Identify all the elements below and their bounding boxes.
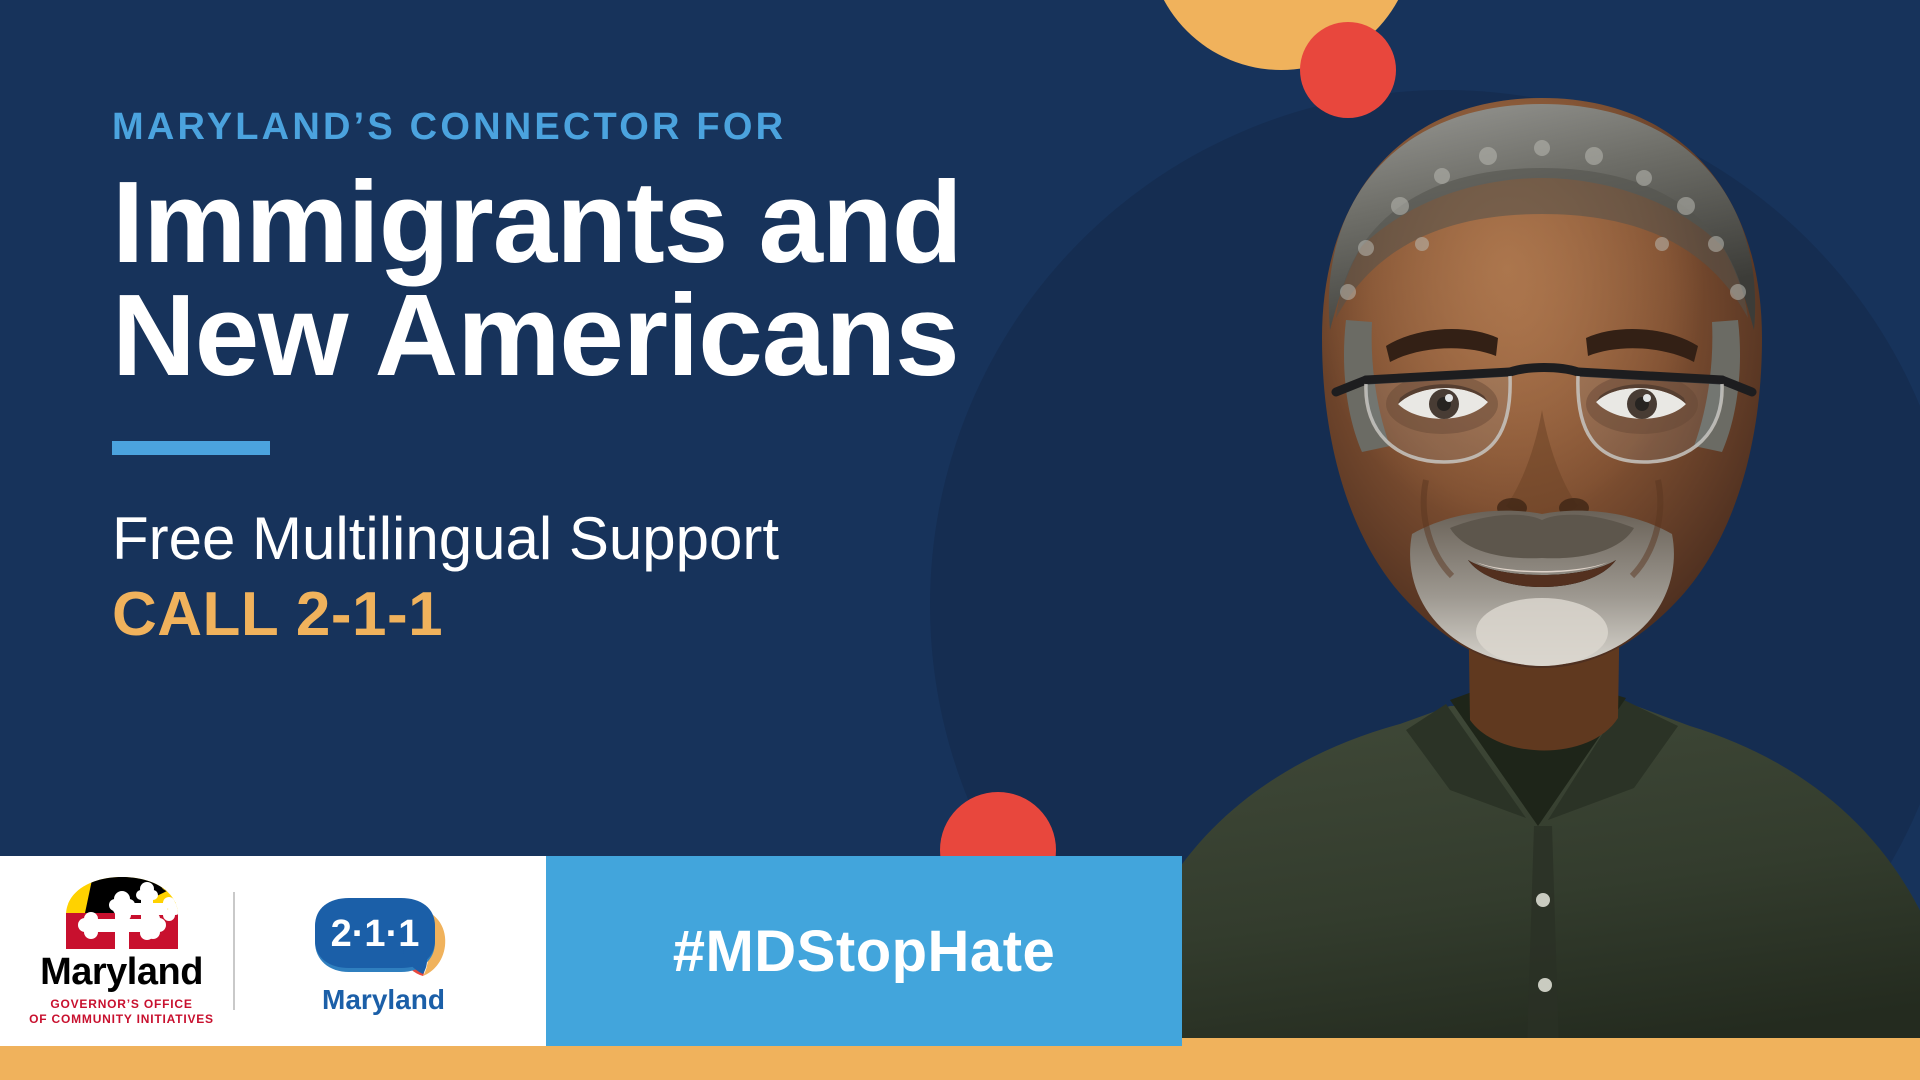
poster-canvas: MARYLAND’S CONNECTOR FOR Immigrants and … bbox=[0, 0, 1920, 1080]
governors-office-line-2: OF COMMUNITY INITIATIVES bbox=[29, 1012, 214, 1027]
maryland-wordmark: Maryland bbox=[40, 953, 203, 991]
maryland-flag-shield-icon bbox=[63, 875, 181, 949]
headline-line-1: Immigrants and bbox=[112, 166, 1120, 279]
speech-bubble-211-icon: 2·1·1 bbox=[305, 888, 463, 984]
footer-vertical-divider bbox=[233, 892, 235, 1010]
logo-211-maryland: 2·1·1 Maryland bbox=[243, 888, 546, 1014]
portrait-photo bbox=[1150, 0, 1920, 1080]
call-to-action-text: CALL 2-1-1 bbox=[112, 582, 1120, 647]
headline-block: MARYLAND’S CONNECTOR FOR Immigrants and … bbox=[0, 0, 1120, 647]
governors-office-line-1: GOVERNOR’S OFFICE bbox=[50, 997, 192, 1012]
eyebrow-text: MARYLAND’S CONNECTOR FOR bbox=[112, 108, 1120, 146]
headline-line-2: New Americans bbox=[112, 279, 1120, 392]
accent-divider bbox=[112, 441, 270, 455]
hashtag-text: #MDStopHate bbox=[673, 918, 1056, 985]
footer-logo-panel: Maryland GOVERNOR’S OFFICE OF COMMUNITY … bbox=[0, 856, 546, 1046]
logo-211-state-label: Maryland bbox=[322, 986, 445, 1014]
logo-211-number: 2·1·1 bbox=[330, 913, 419, 955]
maryland-governors-office-logo: Maryland GOVERNOR’S OFFICE OF COMMUNITY … bbox=[0, 875, 225, 1027]
hashtag-banner: #MDStopHate bbox=[546, 856, 1182, 1046]
page-title: Immigrants and New Americans bbox=[112, 166, 1120, 391]
subheadline-text: Free Multilingual Support bbox=[112, 507, 1120, 570]
